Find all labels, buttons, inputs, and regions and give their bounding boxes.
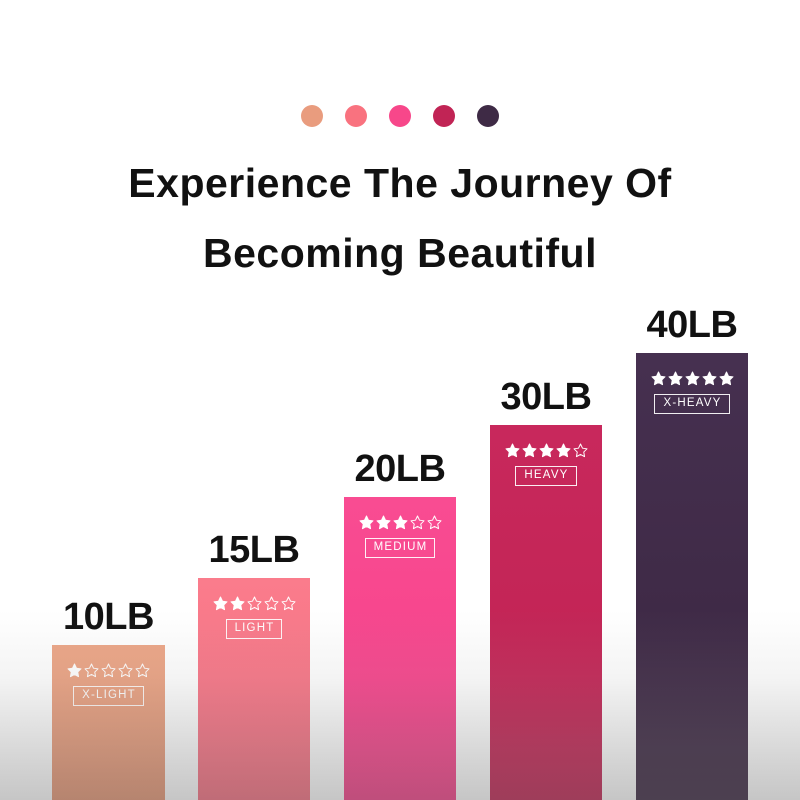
star-empty-icon: [101, 663, 116, 678]
star-empty-icon: [264, 596, 279, 611]
star-empty-icon: [281, 596, 296, 611]
bar-fill: MEDIUM: [344, 497, 456, 800]
product-infographic: Experience The Journey Of Becoming Beaut…: [0, 0, 800, 800]
star-rating: [505, 443, 588, 458]
color-swatch-row: [0, 105, 800, 127]
star-filled-icon: [230, 596, 245, 611]
bar-level-badge: HEAVY: [515, 466, 576, 486]
star-filled-icon: [651, 371, 666, 386]
headline-line-2: Becoming Beautiful: [0, 218, 800, 288]
star-filled-icon: [702, 371, 717, 386]
star-filled-icon: [685, 371, 700, 386]
star-rating: [67, 663, 150, 678]
star-filled-icon: [505, 443, 520, 458]
dot-light: [345, 105, 367, 127]
bar-fill: X-HEAVY: [636, 353, 748, 800]
star-filled-icon: [668, 371, 683, 386]
bar-weight-label: 30LB: [501, 376, 592, 419]
dot-heavy: [433, 105, 455, 127]
star-filled-icon: [719, 371, 734, 386]
star-filled-icon: [539, 443, 554, 458]
headline-line-1: Experience The Journey Of: [0, 148, 800, 218]
bar-30lb[interactable]: 30LBHEAVY: [490, 425, 602, 800]
bar-weight-label: 20LB: [355, 448, 446, 491]
bar-level-badge: X-HEAVY: [654, 394, 729, 414]
star-rating: [213, 596, 296, 611]
bar-fill: X-LIGHT: [52, 645, 165, 800]
bar-15lb[interactable]: 15LBLIGHT: [198, 578, 310, 800]
star-filled-icon: [393, 515, 408, 530]
star-empty-icon: [410, 515, 425, 530]
star-filled-icon: [522, 443, 537, 458]
star-empty-icon: [135, 663, 150, 678]
bar-fill: HEAVY: [490, 425, 602, 800]
star-empty-icon: [427, 515, 442, 530]
star-filled-icon: [359, 515, 374, 530]
star-empty-icon: [247, 596, 262, 611]
bar-weight-label: 40LB: [647, 304, 738, 347]
bar-20lb[interactable]: 20LBMEDIUM: [344, 497, 456, 800]
bar-40lb[interactable]: 40LBX-HEAVY: [636, 353, 748, 800]
star-filled-icon: [213, 596, 228, 611]
star-empty-icon: [573, 443, 588, 458]
bar-level-badge: LIGHT: [226, 619, 283, 639]
star-empty-icon: [118, 663, 133, 678]
bar-weight-label: 15LB: [209, 529, 300, 572]
dot-x-light: [301, 105, 323, 127]
star-filled-icon: [376, 515, 391, 530]
page-title: Experience The Journey Of Becoming Beaut…: [0, 148, 800, 288]
bar-level-badge: X-LIGHT: [73, 686, 144, 706]
bar-weight-label: 10LB: [63, 596, 154, 639]
dot-medium: [389, 105, 411, 127]
star-rating: [359, 515, 442, 530]
dot-x-heavy: [477, 105, 499, 127]
star-rating: [651, 371, 734, 386]
star-empty-icon: [84, 663, 99, 678]
star-filled-icon: [556, 443, 571, 458]
star-filled-icon: [67, 663, 82, 678]
bar-level-badge: MEDIUM: [365, 538, 436, 558]
bar-10lb[interactable]: 10LBX-LIGHT: [52, 645, 165, 800]
bar-fill: LIGHT: [198, 578, 310, 800]
